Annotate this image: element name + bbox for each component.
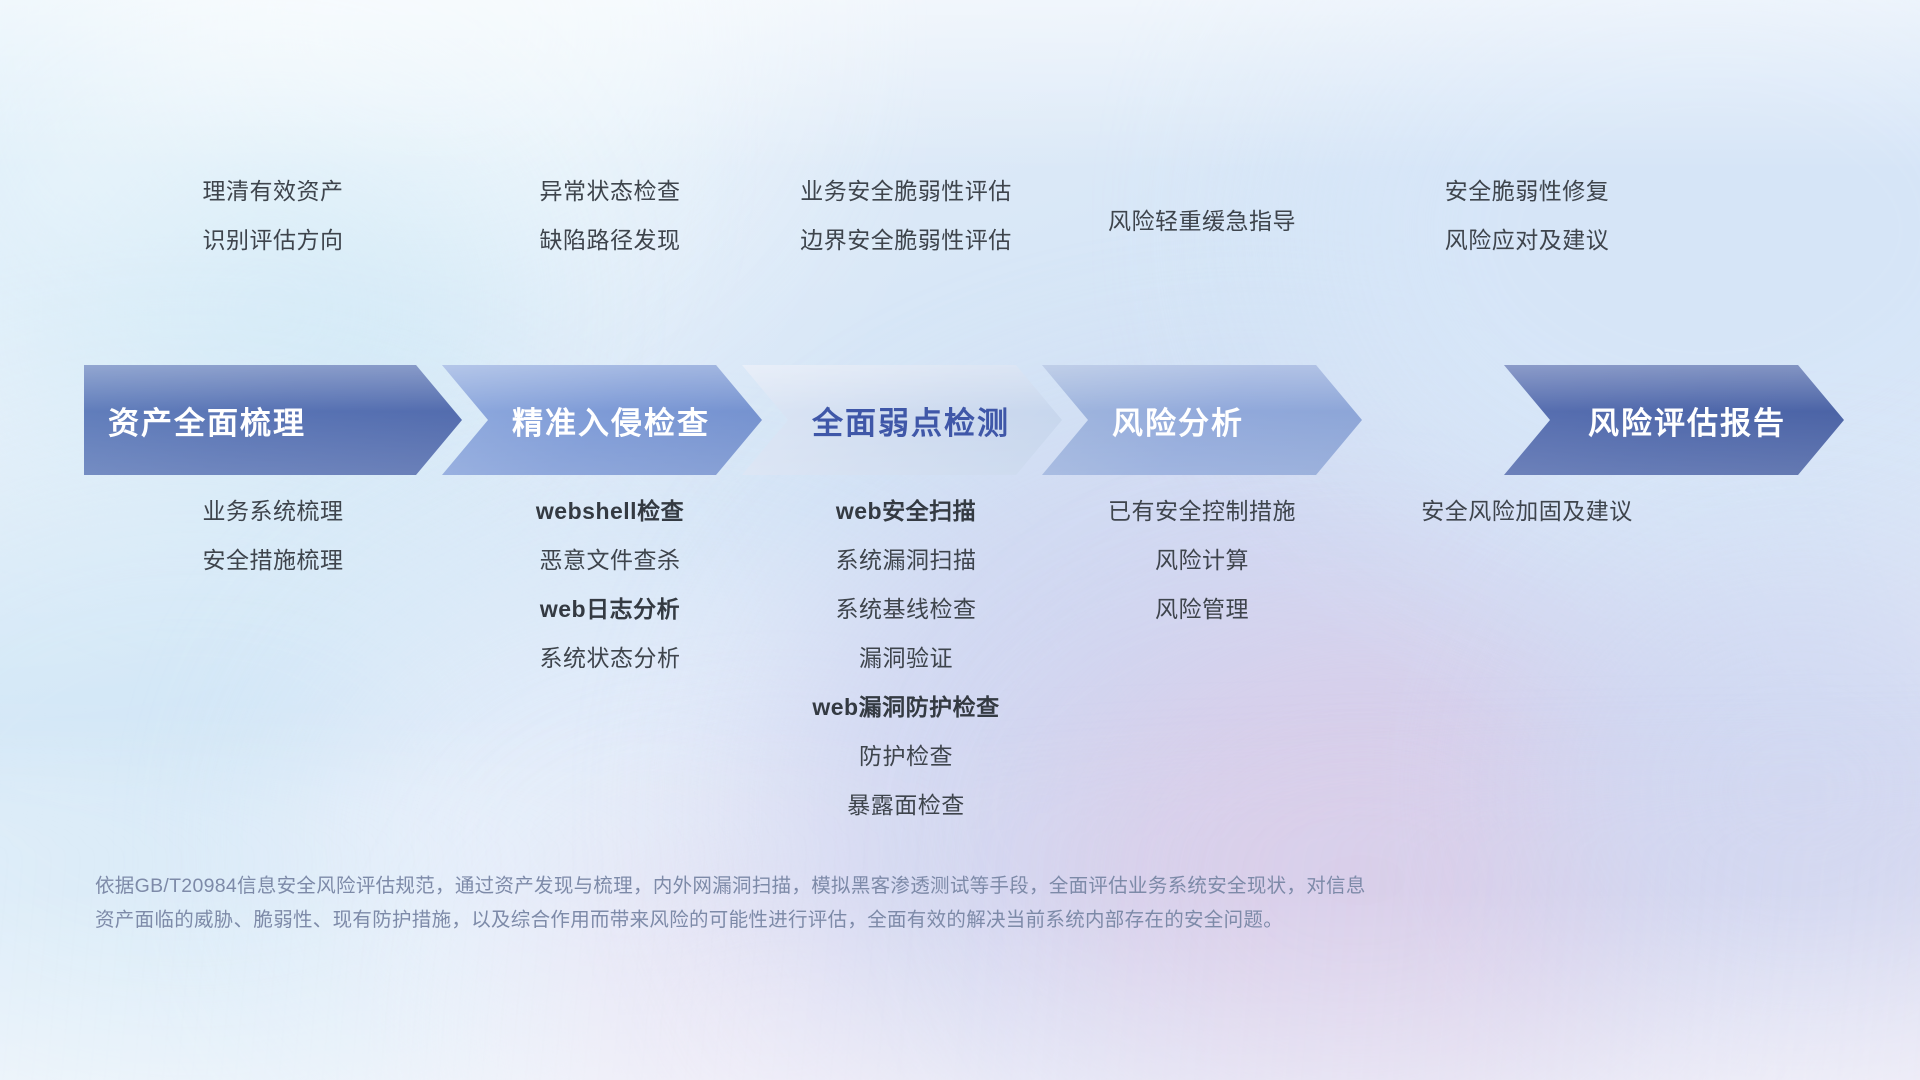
upper-labels-asset-review: 理清有效资产 识别评估方向: [84, 180, 462, 278]
stage-label: 风险分析: [1112, 398, 1244, 443]
stage-label: 资产全面梳理: [108, 398, 306, 443]
upper-label: 异常状态检查: [540, 180, 681, 203]
upper-label: 识别评估方向: [203, 229, 344, 252]
lower-label: 暴露面检查: [847, 794, 965, 817]
lower-labels-risk-analysis: 已有安全控制措施 风险计算 风险管理: [1054, 500, 1350, 843]
lower-label: 恶意文件查杀: [540, 549, 681, 572]
lower-labels-row: 业务系统梳理 安全措施梳理 webshell检查 恶意文件查杀 web日志分析 …: [0, 500, 1920, 830]
upper-labels-intrusion-check: 异常状态检查 缺陷路径发现: [462, 180, 758, 278]
lower-label: 风险管理: [1155, 598, 1249, 621]
footer-line-1: 依据GB/T20984信息安全风险评估规范，通过资产发现与梳理，内外网漏洞扫描，…: [95, 870, 1615, 904]
stage-arrow-risk-report[interactable]: 风险评估报告: [1504, 365, 1844, 475]
lower-labels-weakness-detection: web安全扫描 系统漏洞扫描 系统基线检查 漏洞验证 web漏洞防护检查 防护检…: [758, 500, 1054, 843]
upper-labels-risk-analysis: 风险轻重缓急指导: [1054, 180, 1350, 278]
upper-labels-weakness-detection: 业务安全脆弱性评估 边界安全脆弱性评估: [758, 180, 1054, 278]
lower-label: web日志分析: [540, 598, 680, 621]
upper-label: 风险轻重缓急指导: [1108, 210, 1296, 233]
lower-label: webshell检查: [536, 500, 684, 523]
lower-label: 安全措施梳理: [203, 549, 344, 572]
upper-label: 安全脆弱性修复: [1445, 180, 1610, 203]
stage-arrow-weakness-detection[interactable]: 全面弱点检测: [742, 365, 1062, 475]
upper-labels-row: 理清有效资产 识别评估方向 异常状态检查 缺陷路径发现 业务安全脆弱性评估 边界…: [0, 180, 1920, 310]
stage-label: 全面弱点检测: [812, 398, 1010, 443]
lower-label: 系统漏洞扫描: [836, 549, 977, 572]
stage-label: 风险评估报告: [1588, 398, 1786, 443]
lower-labels-intrusion-check: webshell检查 恶意文件查杀 web日志分析 系统状态分析: [462, 500, 758, 843]
lower-label: 系统基线检查: [836, 598, 977, 621]
lower-label: web安全扫描: [836, 500, 976, 523]
lower-label: 业务系统梳理: [203, 500, 344, 523]
lower-label: 系统状态分析: [540, 647, 681, 670]
upper-label: 业务安全脆弱性评估: [800, 180, 1012, 203]
stage-label: 精准入侵检查: [512, 398, 710, 443]
lower-label: 漏洞验证: [859, 647, 953, 670]
lower-labels-risk-report: 安全风险加固及建议: [1350, 500, 1704, 843]
upper-labels-risk-report: 安全脆弱性修复 风险应对及建议: [1350, 180, 1704, 278]
lower-label: 安全风险加固及建议: [1421, 500, 1633, 523]
lower-label: web漏洞防护检查: [812, 696, 999, 719]
diagram-content: 理清有效资产 识别评估方向 异常状态检查 缺陷路径发现 业务安全脆弱性评估 边界…: [0, 0, 1920, 1080]
footer-description: 依据GB/T20984信息安全风险评估规范，通过资产发现与梳理，内外网漏洞扫描，…: [95, 870, 1615, 937]
upper-label: 边界安全脆弱性评估: [800, 229, 1012, 252]
process-arrow-band: 资产全面梳理 精准入侵检查 全面弱点检测 风险分析 风险评估报告: [84, 365, 1844, 475]
lower-labels-asset-review: 业务系统梳理 安全措施梳理: [84, 500, 462, 843]
lower-label: 防护检查: [859, 745, 953, 768]
lower-label: 风险计算: [1155, 549, 1249, 572]
stage-arrow-risk-analysis[interactable]: 风险分析: [1042, 365, 1362, 475]
upper-label: 风险应对及建议: [1445, 229, 1610, 252]
lower-label: 已有安全控制措施: [1108, 500, 1296, 523]
stage-arrow-intrusion-check[interactable]: 精准入侵检查: [442, 365, 762, 475]
upper-label: 缺陷路径发现: [540, 229, 681, 252]
footer-line-2: 资产面临的威胁、脆弱性、现有防护措施，以及综合作用而带来风险的可能性进行评估，全…: [95, 904, 1615, 938]
upper-label: 理清有效资产: [203, 180, 344, 203]
stage-arrow-asset-review[interactable]: 资产全面梳理: [84, 365, 462, 475]
